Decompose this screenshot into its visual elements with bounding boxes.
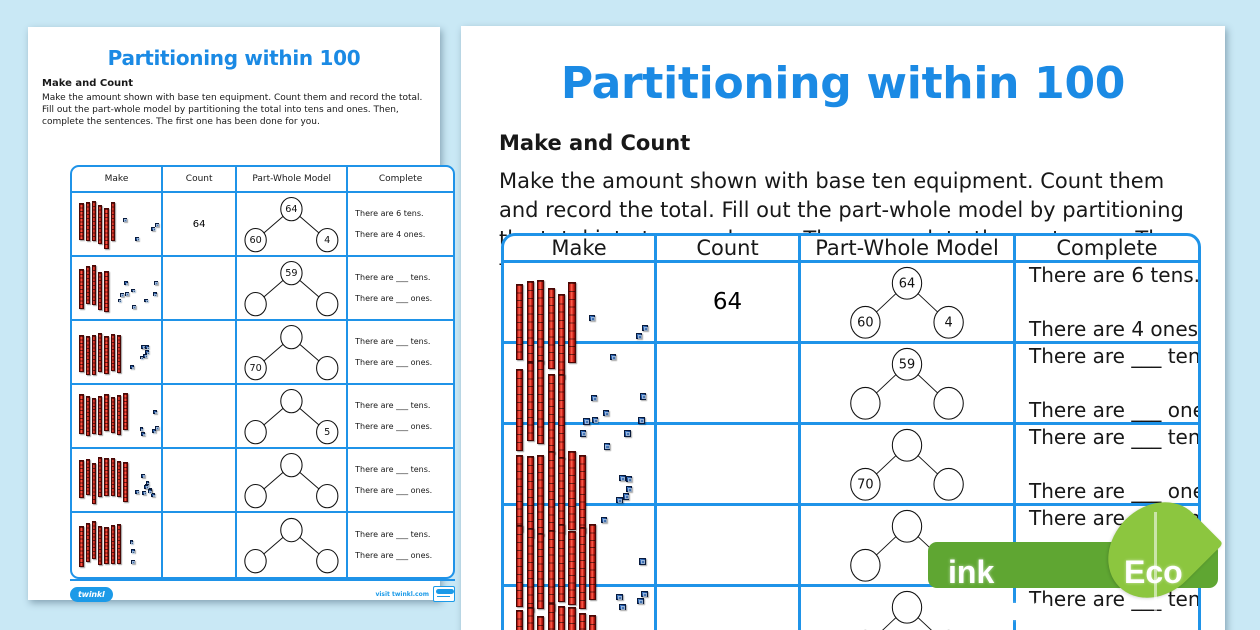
sentence-block: There are ___ tens.There are ___ ones. <box>348 465 453 495</box>
part-right-node-value: 4 <box>324 235 330 246</box>
tens-rod <box>79 526 83 566</box>
ones-cube <box>603 410 609 416</box>
base-ten-blocks <box>72 321 161 383</box>
tens-rod <box>548 603 555 630</box>
tens-rod <box>79 203 83 240</box>
table-row: 70There are ___ tens.There are ___ ones. <box>72 321 453 385</box>
part-whole-model: 59 <box>801 344 1013 422</box>
ones-cube <box>143 354 147 358</box>
ones-cube <box>131 560 135 564</box>
whole-node <box>281 325 302 348</box>
thumbnail-intro-block: Make and Count Make the amount shown wit… <box>28 78 440 129</box>
part-right-node <box>317 550 338 573</box>
ones-cube <box>640 393 646 399</box>
count-value: 64 <box>713 289 742 315</box>
ones-cube <box>151 493 155 497</box>
part-right-node-value: 4 <box>945 315 953 330</box>
base-ten-blocks <box>72 257 161 319</box>
make-cell <box>504 506 657 584</box>
tens-rod <box>86 266 90 304</box>
sentence-ones: There are 4 ones. <box>355 230 425 239</box>
base-ten-blocks <box>504 425 654 503</box>
tens-rod <box>117 461 121 497</box>
part-whole-cell[interactable]: 70 <box>801 425 1016 503</box>
ones-cube <box>144 485 148 489</box>
section-heading-large: Make and Count <box>499 131 1187 155</box>
table-row: There are ___ tens.There are ___ ones. <box>72 513 453 577</box>
table-row: 59There are ___ tens.There are ___ ones. <box>504 344 1198 425</box>
part-right-node <box>317 484 338 507</box>
sentence-tens: There are ___ tens. <box>355 465 430 474</box>
sentence-block: There are ___ tens.There are ___ ones. <box>1016 344 1198 422</box>
sentence-ones: There are ___ ones. <box>355 294 432 303</box>
footer-right-group: visit twinkl.com <box>375 586 455 602</box>
tens-rod <box>92 463 96 503</box>
ones-cube <box>124 281 128 285</box>
count-value: 64 <box>193 219 206 230</box>
whole-node <box>892 510 921 542</box>
tens-rod <box>86 396 90 436</box>
eco-label: Eco <box>1124 554 1183 591</box>
ones-cube <box>151 227 155 231</box>
ones-cube <box>639 558 645 564</box>
part-whole-model <box>237 449 346 511</box>
tens-rod <box>92 265 96 305</box>
tens-rod <box>104 336 108 373</box>
base-ten-blocks <box>72 513 161 577</box>
make-cell <box>504 425 657 503</box>
tens-rod <box>79 394 83 434</box>
tens-rod <box>86 202 90 241</box>
ones-cube <box>145 345 149 349</box>
column-header-complete: Complete <box>1016 236 1198 260</box>
sentence-tens: There are 6 tens. <box>355 209 423 218</box>
ones-cube <box>148 489 152 493</box>
whole-node <box>892 429 921 461</box>
complete-cell[interactable]: There are 6 tens.There are 4 ones. <box>1016 263 1198 341</box>
whole-node-value: 64 <box>899 276 915 291</box>
whole-node <box>281 389 302 412</box>
column-header-part-whole-model: Part-Whole Model <box>801 236 1016 260</box>
tens-rod <box>516 610 523 630</box>
whole-node <box>892 591 921 623</box>
sentence-ones: There are ___ ones. <box>355 486 432 495</box>
sentence-tens: There are ___ tens. <box>1029 344 1201 368</box>
tens-rod <box>79 460 83 497</box>
table-row: 6464604There are 6 tens.There are 4 ones… <box>504 263 1198 344</box>
count-cell[interactable] <box>163 513 237 577</box>
tens-rod <box>98 396 102 435</box>
sentence-block: There are ___ tens.There are ___ ones. <box>1016 425 1198 503</box>
part-whole-model: 59 <box>237 257 346 319</box>
part-left-node <box>851 549 880 581</box>
count-cell[interactable]: 64 <box>163 193 237 255</box>
base-ten-blocks <box>504 344 654 422</box>
sentence-ones: There are ___ ones. <box>355 551 432 560</box>
count-cell[interactable] <box>163 321 237 383</box>
ones-cube <box>141 432 145 436</box>
tens-rod <box>111 334 115 372</box>
sentence-tens: There are ___ tens. <box>355 401 430 410</box>
part-whole-model: 64604 <box>801 263 1013 341</box>
count-cell[interactable] <box>657 506 801 584</box>
tens-rod <box>527 607 534 630</box>
count-cell[interactable] <box>657 425 801 503</box>
tens-rod <box>98 457 102 498</box>
part-whole-cell[interactable]: 64604 <box>801 263 1016 341</box>
complete-cell[interactable]: There are ___ tens.There are ___ ones. <box>348 513 453 577</box>
tens-rod <box>92 398 96 435</box>
part-whole-model: 64604 <box>237 193 346 255</box>
worksheet-table: MakeCountPart-Whole ModelComplete6464604… <box>70 165 455 579</box>
tens-rod <box>86 336 90 376</box>
sentence-block: There are 6 tens.There are 4 ones. <box>1016 263 1198 341</box>
ones-cube <box>118 299 122 303</box>
sentence-block: There are ___ tens.There are ___ ones. <box>348 273 453 303</box>
page-title-large: Partitioning within 100 <box>461 58 1225 109</box>
whole-node <box>281 453 302 476</box>
ones-cube <box>140 427 144 431</box>
sentence-tens: There are ___ tens. <box>355 530 430 539</box>
worksheet-thumbnail-page[interactable]: Partitioning within 100 Make and Count M… <box>28 27 440 600</box>
ones-cube <box>583 418 589 424</box>
tens-rod <box>111 458 115 496</box>
tens-rod <box>104 271 108 312</box>
part-left-node <box>851 387 880 419</box>
part-left-node <box>245 550 266 573</box>
sentence-ones: There are 4 ones. <box>1029 317 1201 341</box>
ones-cube <box>154 281 158 285</box>
complete-cell[interactable]: There are 6 tens.There are 4 ones. <box>348 193 453 255</box>
tens-rod <box>117 395 121 434</box>
table-row: There are ___ tens.There are ___ ones. <box>504 587 1198 630</box>
visit-url-text[interactable]: visit twinkl.com <box>375 591 429 598</box>
sentence-block: There are 6 tens.There are 4 ones. <box>348 209 453 239</box>
sentence-ones: There are ___ ones. <box>1029 479 1201 503</box>
make-cell <box>504 344 657 422</box>
part-whole-model <box>237 513 346 577</box>
complete-cell[interactable]: There are ___ tens.There are ___ ones. <box>1016 425 1198 503</box>
sentence-block: There are ___ tens.There are ___ ones. <box>348 337 453 367</box>
part-right-node <box>934 387 963 419</box>
count-cell[interactable] <box>163 385 237 447</box>
ones-cube <box>155 426 159 430</box>
tens-rod <box>86 523 90 562</box>
sentence-block: There are ___ tens.There are ___ ones. <box>348 401 453 431</box>
ones-cube <box>638 417 644 423</box>
ones-cube <box>130 540 134 544</box>
section-heading: Make and Count <box>42 78 426 89</box>
table-row: 70There are ___ tens.There are ___ ones. <box>504 425 1198 506</box>
make-cell <box>504 587 657 630</box>
part-whole-model: 70 <box>237 321 346 383</box>
part-left-node-value: 70 <box>250 363 262 374</box>
whole-node-value: 64 <box>286 204 298 215</box>
part-right-node <box>317 356 338 379</box>
part-right-node <box>317 292 338 315</box>
tens-rod <box>111 397 115 433</box>
part-whole-cell[interactable]: 59 <box>801 344 1016 422</box>
tens-rod <box>111 525 115 564</box>
ones-cube <box>619 475 625 481</box>
tens-rod <box>98 205 102 244</box>
sentence-ones: There are ___ ones. <box>1029 398 1201 422</box>
ones-cube <box>144 299 148 303</box>
make-cell <box>72 385 163 447</box>
tens-rod <box>98 333 102 372</box>
part-left-node <box>245 484 266 507</box>
part-right-node <box>934 468 963 500</box>
tens-rod <box>79 335 83 372</box>
ones-cube <box>623 493 629 499</box>
tens-rod <box>104 394 108 432</box>
sentence-tens: There are ___ tens. <box>355 337 430 346</box>
make-cell <box>72 449 163 511</box>
sentence-ones: There are ___ ones. <box>355 422 432 431</box>
tens-rod <box>104 458 108 496</box>
ones-cube <box>120 293 124 297</box>
complete-cell[interactable]: There are ___ tens.There are ___ ones. <box>348 385 453 447</box>
part-left-node-value: 60 <box>857 315 873 330</box>
ones-cube <box>636 333 642 339</box>
table-row: 5There are ___ tens.There are ___ ones. <box>72 385 453 449</box>
page-footer: twinkl visit twinkl.com <box>70 579 455 602</box>
tens-rod <box>117 524 121 565</box>
ones-cube <box>626 486 632 492</box>
tens-rod <box>92 201 96 241</box>
ones-cube <box>141 474 145 478</box>
sentence-tens: There are 6 tens. <box>1029 263 1200 287</box>
part-whole-cell[interactable]: 64604 <box>237 193 348 255</box>
part-whole-cell[interactable] <box>237 449 348 511</box>
tens-rod <box>123 462 127 502</box>
part-whole-model: 70 <box>801 425 1013 503</box>
whole-node-value: 59 <box>899 357 915 372</box>
ones-cube <box>135 490 139 494</box>
make-cell <box>504 263 657 341</box>
base-ten-blocks <box>72 385 161 447</box>
make-cell <box>72 193 163 255</box>
part-right-node-value: 5 <box>324 427 330 438</box>
make-cell <box>72 257 163 319</box>
ones-cube <box>153 292 157 296</box>
part-left-node <box>245 292 266 315</box>
tens-rod <box>568 607 575 630</box>
ones-cube <box>130 365 134 369</box>
page-title: Partitioning within 100 <box>28 46 440 70</box>
table-row: There are ___ tens.There are ___ ones. <box>72 449 453 513</box>
ones-cube <box>131 549 135 553</box>
sentence-block: There are ___ tens.There are ___ ones. <box>348 530 453 560</box>
whole-node-value: 59 <box>286 268 298 279</box>
ones-cube <box>642 325 648 331</box>
table-header-row: MakeCountPart-Whole ModelComplete <box>72 167 453 193</box>
tens-rod <box>117 335 121 373</box>
column-header-complete: Complete <box>348 167 453 191</box>
column-header-count: Count <box>657 236 801 260</box>
part-whole-model: 5 <box>237 385 346 447</box>
ones-cube <box>155 223 159 227</box>
complete-cell[interactable]: There are ___ tens.There are ___ ones. <box>1016 344 1198 422</box>
complete-cell[interactable]: There are ___ tens.There are ___ ones. <box>348 321 453 383</box>
ones-cube <box>153 410 157 414</box>
sentence-tens: There are ___ tens. <box>355 273 430 282</box>
part-whole-cell[interactable]: 59 <box>237 257 348 319</box>
tens-rod <box>92 521 96 558</box>
count-cell[interactable] <box>163 449 237 511</box>
instructions-text: Make the amount shown with base ten equi… <box>42 93 426 129</box>
base-ten-blocks <box>504 263 654 341</box>
count-cell[interactable] <box>657 587 801 630</box>
ink-saving-label: ink saving <box>948 554 1049 628</box>
column-header-make: Make <box>72 167 163 191</box>
column-header-make: Make <box>504 236 657 260</box>
ones-cube <box>132 305 136 309</box>
twinkl-logo[interactable]: twinkl <box>70 587 113 602</box>
ones-cube <box>592 417 598 423</box>
tens-rod <box>558 606 565 630</box>
ones-cube <box>626 476 632 482</box>
screenshot-stage: Partitioning within 100 Make and Count M… <box>0 0 1260 630</box>
base-ten-blocks <box>504 506 654 584</box>
part-whole-cell[interactable] <box>237 513 348 577</box>
tens-rod <box>589 615 596 630</box>
table-row: 6464604There are 6 tens.There are 4 ones… <box>72 193 453 257</box>
sentence-tens: There are ___ tens. <box>1029 425 1201 449</box>
count-cell[interactable] <box>163 257 237 319</box>
ones-cube <box>131 289 135 293</box>
tens-rod <box>579 613 586 630</box>
tens-rod <box>98 272 102 310</box>
tens-rod <box>104 527 108 564</box>
base-ten-blocks <box>504 587 654 630</box>
tens-rod <box>92 335 96 374</box>
make-cell <box>72 321 163 383</box>
make-cell <box>72 513 163 577</box>
column-header-part-whole-model: Part-Whole Model <box>237 167 348 191</box>
part-whole-cell[interactable]: 5 <box>237 385 348 447</box>
base-ten-blocks <box>72 193 161 255</box>
whole-node <box>281 518 302 541</box>
part-whole-cell[interactable]: 70 <box>237 321 348 383</box>
ones-cube <box>125 292 129 296</box>
complete-cell[interactable]: There are ___ tens.There are ___ ones. <box>348 449 453 511</box>
part-left-node <box>245 420 266 443</box>
tens-rod <box>104 208 108 249</box>
ones-cube <box>123 218 127 222</box>
column-header-count: Count <box>163 167 237 191</box>
ones-cube <box>135 237 139 241</box>
count-cell[interactable] <box>657 344 801 422</box>
ones-cube <box>142 491 146 495</box>
table-row: 59There are ___ tens.There are ___ ones. <box>72 257 453 321</box>
part-left-node-value: 70 <box>857 477 873 492</box>
base-ten-blocks <box>72 449 161 511</box>
tens-rod <box>537 616 544 630</box>
tens-rod <box>98 526 102 565</box>
part-left-node-value: 60 <box>250 235 262 246</box>
sentence-ones: There are ___ ones. <box>355 358 432 367</box>
tens-rod <box>86 459 90 495</box>
count-cell[interactable]: 64 <box>657 263 801 341</box>
ones-cube <box>591 395 597 401</box>
tens-rod <box>79 269 83 309</box>
ones-cube <box>589 315 595 321</box>
tens-rod <box>111 202 115 241</box>
table-header-row: MakeCountPart-Whole ModelComplete <box>504 236 1198 263</box>
twinkl-badge-icon <box>433 586 455 602</box>
worksheet-preview-page[interactable]: Partitioning within 100 Make and Count M… <box>461 26 1225 630</box>
tens-rod <box>123 393 127 430</box>
complete-cell[interactable]: There are ___ tens.There are ___ ones. <box>348 257 453 319</box>
